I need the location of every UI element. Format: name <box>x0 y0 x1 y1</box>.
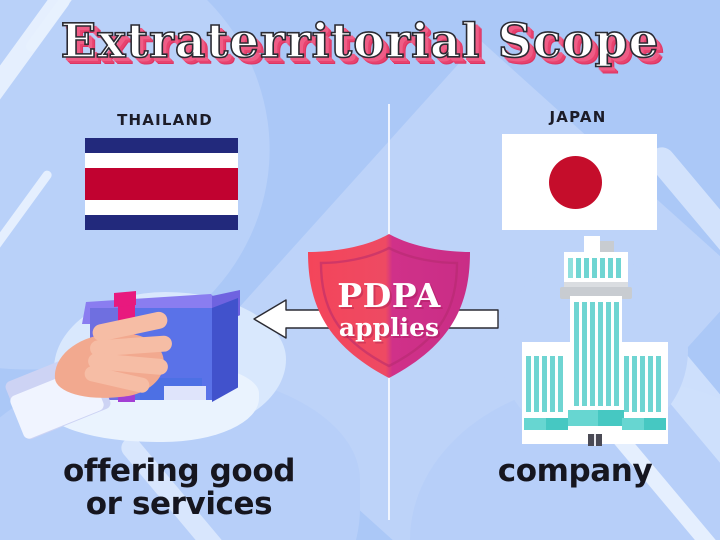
caption-left-line2: or services <box>14 488 344 521</box>
country-label-thailand: THAILAND <box>85 111 245 129</box>
building-window <box>576 258 581 278</box>
building-entrance-banner-light <box>568 410 598 426</box>
building-window <box>606 302 611 406</box>
pdpa-shield-badge: PDPA applies <box>302 232 476 380</box>
infographic-canvas: Extraterritorial Scope THAILAND offering… <box>0 0 720 540</box>
office-building-illustration <box>498 258 690 444</box>
building-window <box>624 356 629 412</box>
building-door-divider <box>594 434 596 446</box>
caption-left: offering good or services <box>14 455 344 521</box>
building-window <box>598 302 603 406</box>
building-window <box>640 356 645 412</box>
building-window <box>542 356 547 412</box>
building-window <box>590 302 595 406</box>
building-sill-left-light <box>524 418 546 430</box>
gift-box-tag <box>164 386 206 400</box>
gift-box-illustration <box>44 268 294 448</box>
building-window <box>648 356 653 412</box>
caption-left-line1: offering good <box>14 455 344 488</box>
building-window <box>656 356 661 412</box>
building-window <box>600 258 605 278</box>
page-title: Extraterritorial Scope <box>0 14 720 69</box>
caption-right-line1: company <box>450 455 700 488</box>
japan-flag-icon <box>502 134 657 230</box>
building-shape <box>498 258 690 444</box>
building-window <box>582 302 587 406</box>
building-window <box>558 356 563 412</box>
building-window <box>574 302 579 406</box>
thailand-flag-icon <box>85 138 238 230</box>
japan-flag-sun-disc <box>549 156 602 209</box>
building-window <box>534 356 539 412</box>
gift-box-side <box>212 298 238 402</box>
building-window <box>550 356 555 412</box>
building-window <box>608 258 613 278</box>
building-window <box>568 258 573 278</box>
country-label-japan: JAPAN <box>498 108 658 126</box>
building-window <box>614 302 619 406</box>
building-window <box>526 356 531 412</box>
building-window <box>592 258 597 278</box>
building-sill-right-light <box>622 418 644 430</box>
gift-ribbon-top <box>114 291 136 307</box>
caption-right: company <box>450 455 700 488</box>
building-window <box>584 258 589 278</box>
building-window <box>632 356 637 412</box>
building-window <box>616 258 621 278</box>
